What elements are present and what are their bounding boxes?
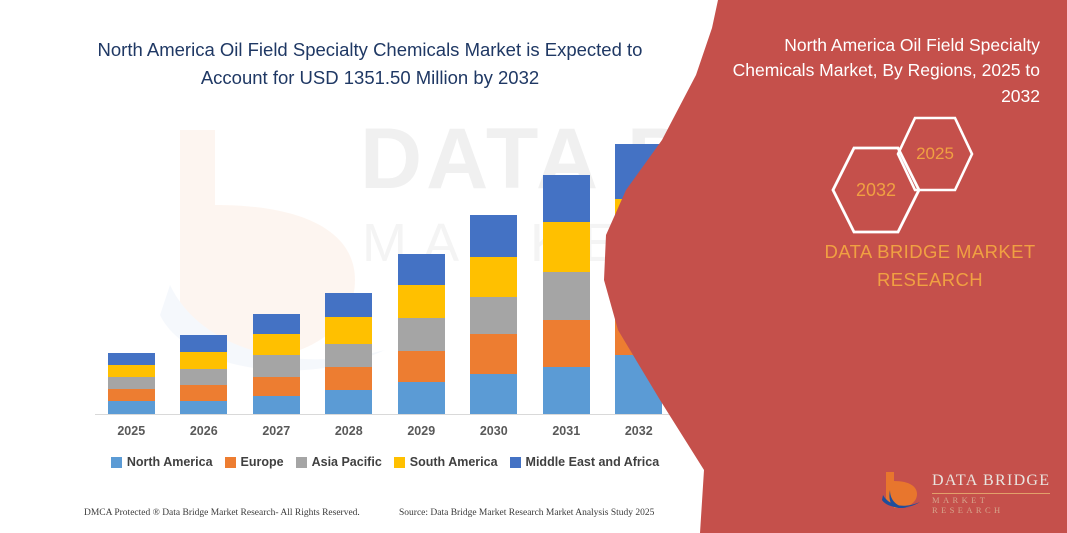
x-axis-label-2032: 2032 <box>604 424 674 438</box>
footer-source: Source: Data Bridge Market Research Mark… <box>399 508 654 518</box>
bar-segment <box>398 351 445 381</box>
bar-segment <box>398 285 445 317</box>
legend-label: South America <box>410 455 498 469</box>
x-axis-label-2030: 2030 <box>459 424 529 438</box>
legend-item[interactable]: South America <box>394 455 498 469</box>
bar-segment <box>398 318 445 351</box>
bar-segment <box>108 377 155 389</box>
hexagon-2032-label: 2032 <box>856 180 896 201</box>
legend-swatch <box>296 457 307 468</box>
bar-segment <box>325 367 372 389</box>
bar-segment <box>325 390 372 414</box>
bar-segment <box>398 382 445 414</box>
legend-item[interactable]: Middle East and Africa <box>510 455 660 469</box>
legend-item[interactable]: Europe <box>225 455 284 469</box>
bar-2030 <box>470 215 517 414</box>
bar-segment <box>470 374 517 414</box>
legend-swatch <box>510 457 521 468</box>
bar-segment <box>470 257 517 298</box>
x-axis-label-2029: 2029 <box>386 424 456 438</box>
bar-segment <box>325 317 372 344</box>
bar-segment <box>108 389 155 401</box>
x-axis-label-2028: 2028 <box>314 424 384 438</box>
legend-label: Asia Pacific <box>312 455 382 469</box>
bar-segment <box>180 369 227 384</box>
legend-label: North America <box>127 455 213 469</box>
bar-2028 <box>325 293 372 414</box>
x-axis-line <box>95 414 675 415</box>
bar-segment <box>253 396 300 414</box>
bar-segment <box>180 385 227 401</box>
chart-legend: North AmericaEuropeAsia PacificSouth Ame… <box>95 455 675 469</box>
legend-item[interactable]: Asia Pacific <box>296 455 382 469</box>
bar-segment <box>180 401 227 414</box>
bar-segment <box>253 334 300 355</box>
bar-segment <box>543 175 590 223</box>
legend-label: Europe <box>241 455 284 469</box>
legend-swatch <box>225 457 236 468</box>
panel-title: North America Oil Field Specialty Chemic… <box>730 33 1040 109</box>
bar-2031 <box>543 175 590 414</box>
hexagon-badge-2032: 2032 <box>830 145 922 235</box>
brand-name: DATA BRIDGE MARKET RESEARCH <box>790 238 1067 294</box>
bar-segment <box>180 335 227 352</box>
data-bridge-logo: DATA BRIDGE MARKET RESEARCH <box>880 466 1055 516</box>
bar-2027 <box>253 314 300 414</box>
legend-swatch <box>111 457 122 468</box>
bar-segment <box>470 215 517 257</box>
logo-divider <box>932 493 1050 494</box>
bar-segment <box>253 355 300 376</box>
bar-segment <box>543 272 590 320</box>
x-axis-label-2026: 2026 <box>169 424 239 438</box>
bar-segment <box>108 401 155 414</box>
bar-segment <box>180 352 227 369</box>
logo-wordmark-bottom: MARKET RESEARCH <box>932 495 1055 515</box>
bar-segment <box>108 365 155 376</box>
bar-2026 <box>180 335 227 414</box>
bar-segment <box>325 344 372 367</box>
logo-wordmark-top: DATA BRIDGE <box>932 472 1050 490</box>
infographic-canvas: DATA BRIDGE MARKET RESEARCH North Americ… <box>0 0 1067 533</box>
bar-segment <box>470 297 517 333</box>
bar-segment <box>470 334 517 375</box>
bar-segment <box>543 320 590 368</box>
legend-item[interactable]: North America <box>111 455 213 469</box>
x-axis-labels: 20252026202720282029203020312032 <box>95 424 675 444</box>
bar-segment <box>325 293 372 316</box>
bar-segment <box>253 314 300 334</box>
x-axis-label-2027: 2027 <box>241 424 311 438</box>
legend-label: Middle East and Africa <box>526 455 660 469</box>
bar-segment <box>398 254 445 285</box>
bar-2029 <box>398 254 445 414</box>
x-axis-label-2025: 2025 <box>96 424 166 438</box>
footer-copyright: DMCA Protected ® Data Bridge Market Rese… <box>84 508 360 518</box>
data-bridge-mark-icon <box>880 468 924 512</box>
bar-2025 <box>108 353 155 414</box>
bar-segment <box>543 222 590 272</box>
bar-segment <box>253 377 300 396</box>
stacked-bar-chart <box>95 120 675 415</box>
legend-swatch <box>394 457 405 468</box>
bar-segment <box>108 353 155 365</box>
x-axis-label-2031: 2031 <box>531 424 601 438</box>
bar-segment <box>543 367 590 414</box>
page-title: North America Oil Field Specialty Chemic… <box>70 36 670 92</box>
